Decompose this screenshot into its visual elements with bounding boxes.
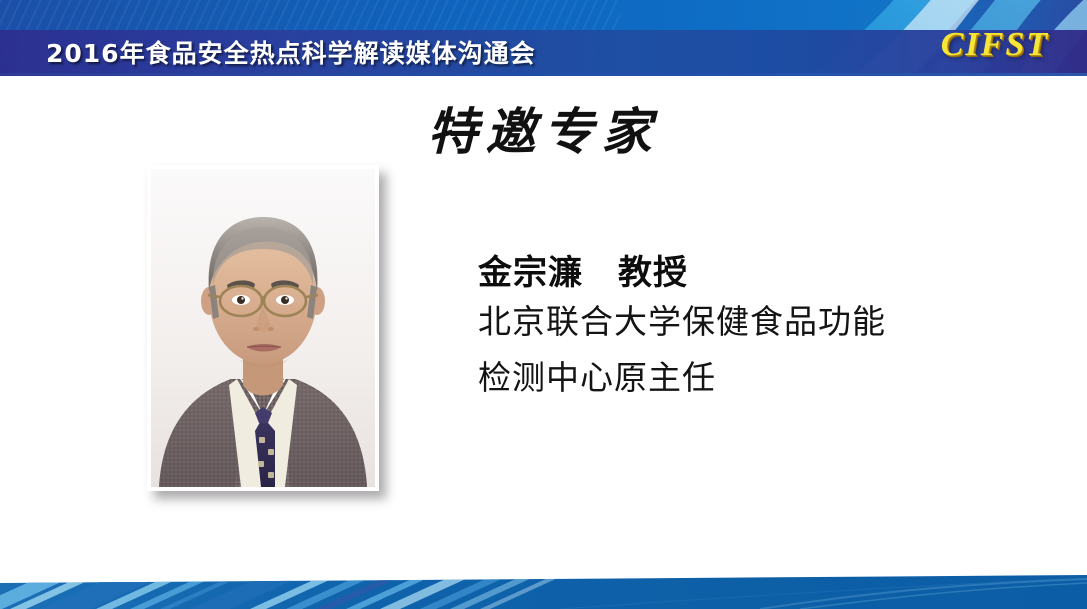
portrait-frame — [147, 165, 379, 491]
bottom-decorative-band — [0, 569, 1087, 609]
page-title: 特邀专家 — [0, 92, 1087, 164]
slide-root: 2016年食品安全热点科学解读媒体沟通会 CIFST 特邀专家 — [0, 0, 1087, 609]
portrait-photo — [151, 169, 375, 487]
speaker-affiliation-line-1: 北京联合大学保健食品功能 — [478, 295, 1038, 352]
conference-title: 2016年食品安全热点科学解读媒体沟通会 — [46, 34, 536, 70]
speaker-name: 金宗濂 教授 — [478, 252, 1038, 295]
speaker-info: 金宗濂 教授 北京联合大学保健食品功能 检测中心原主任 — [478, 252, 1038, 408]
portrait-illustration — [151, 169, 375, 487]
top-banner: 2016年食品安全热点科学解读媒体沟通会 CIFST — [0, 0, 1087, 76]
footer-graphic — [0, 569, 1087, 609]
speaker-affiliation-line-2: 检测中心原主任 — [478, 351, 1038, 408]
banner-bottom-rule — [0, 73, 1087, 76]
cifst-logo: CIFST — [941, 26, 1049, 64]
